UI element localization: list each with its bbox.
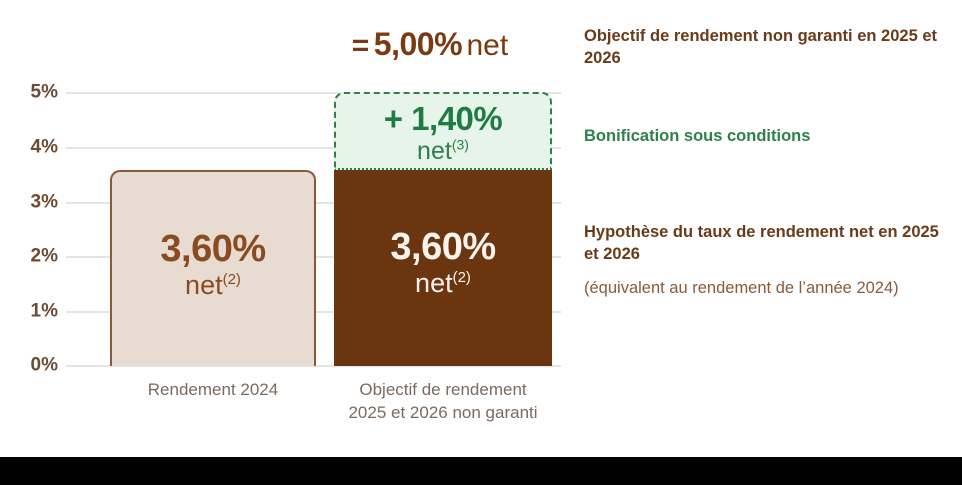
annotation-objectif: Objectif de rendement non garanti en 202… (584, 26, 944, 70)
total-headline: = 5,00% net (300, 28, 560, 61)
bottom-black-band (0, 457, 962, 485)
bar-right-value-small: net(2) (334, 269, 552, 297)
bonus-value-big: + 1,40% (336, 100, 550, 138)
bar-chart: 5% 4% 3% 2% 1% 0% = 5,00% net 3,60% net(… (0, 0, 575, 440)
x-axis-label-objectif-line1: Objectif de rendement (359, 380, 526, 399)
bar-left-unit: net (185, 270, 223, 300)
bar-right-value: 3,60% net(2) (334, 228, 552, 297)
bar-left-value: 3,60% net(2) (112, 230, 314, 299)
bar-left-value-small: net(2) (112, 271, 314, 299)
y-tick-label-1: 1% (14, 302, 58, 321)
bonification-block[interactable]: + 1,40% net(3) (334, 92, 552, 170)
bonus-unit: net (417, 137, 452, 165)
legend-annotations: Objectif de rendement non garanti en 202… (584, 0, 962, 440)
x-axis-label-objectif: Objectif de rendement 2025 et 2026 non g… (334, 379, 552, 425)
total-value: 5,00% (374, 26, 462, 62)
annotation-objectif-title: Objectif de rendement non garanti en 202… (584, 26, 944, 70)
total-value-unit: net (466, 29, 508, 62)
y-tick-label-4: 4% (14, 138, 58, 157)
equals-sign: = (352, 29, 370, 62)
x-axis-label-objectif-line2: 2025 et 2026 non garanti (348, 403, 537, 422)
bar-right-footnote-ref: (2) (453, 269, 471, 286)
annotation-hypothese-sub: (équivalent au rendement de l’année 2024… (584, 278, 944, 300)
x-axis-label-rendement-2024: Rendement 2024 (110, 379, 316, 402)
bar-left-footnote-ref: (2) (223, 271, 241, 288)
bar-right-value-big: 3,60% (334, 228, 552, 268)
annotation-bonification-title: Bonification sous conditions (584, 126, 944, 148)
bonus-value-small: net(3) (336, 137, 550, 166)
y-tick-label-2: 2% (14, 247, 58, 266)
bar-objectif-2025-2026[interactable]: 3,60% net(2) (334, 170, 552, 366)
y-tick-label-0: 0% (14, 356, 58, 375)
annotation-hypothese: Hypothèse du taux de rendement net en 20… (584, 222, 944, 300)
bar-rendement-2024[interactable]: 3,60% net(2) (110, 170, 316, 366)
bar-left-value-big: 3,60% (112, 230, 314, 270)
y-tick-label-3: 3% (14, 193, 58, 212)
chart-container: 5% 4% 3% 2% 1% 0% = 5,00% net 3,60% net(… (0, 0, 962, 485)
y-tick-label-5: 5% (14, 83, 58, 102)
annotation-hypothese-title: Hypothèse du taux de rendement net en 20… (584, 222, 944, 266)
bonus-footnote-ref: (3) (452, 137, 469, 153)
annotation-bonification: Bonification sous conditions (584, 126, 944, 148)
bar-right-unit: net (415, 268, 453, 298)
